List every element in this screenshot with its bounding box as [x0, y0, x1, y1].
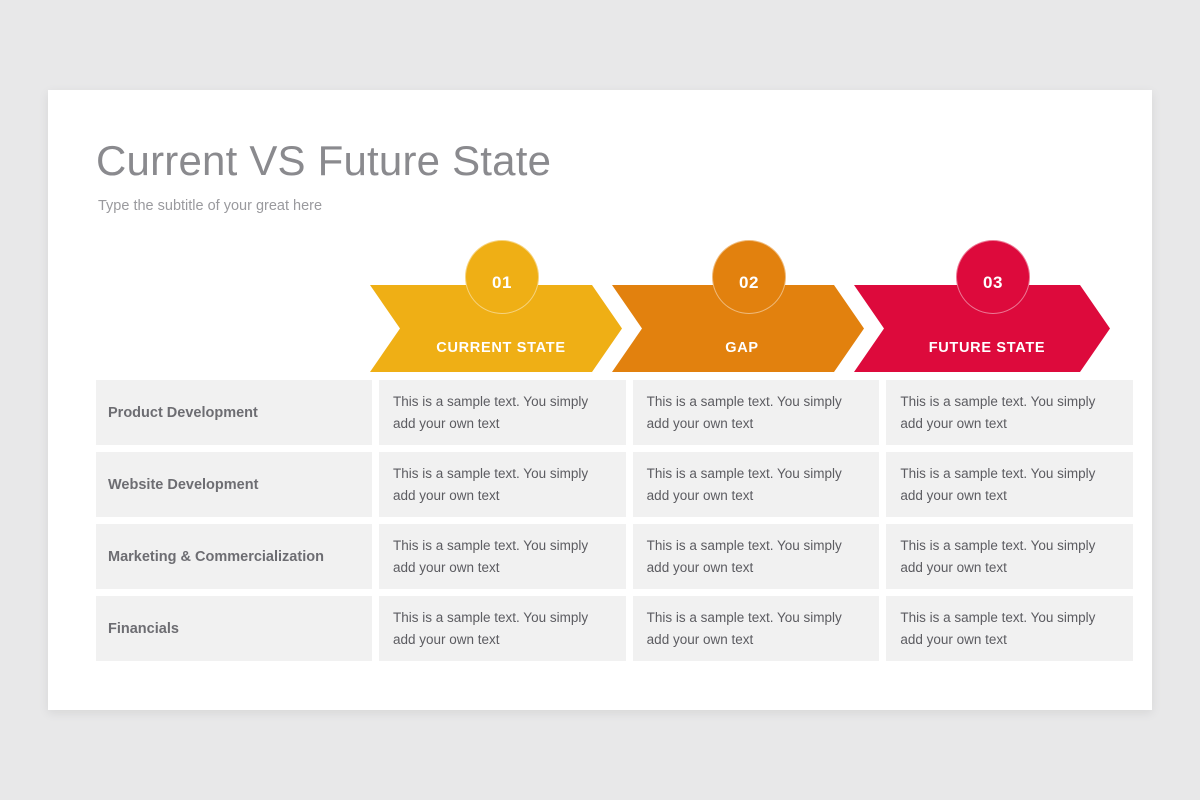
- cell-text: This is a sample text. You simply add yo…: [393, 463, 612, 507]
- table-row: Website Development This is a sample tex…: [96, 452, 1133, 517]
- cell-text: This is a sample text. You simply add yo…: [393, 535, 612, 579]
- cell-future-state[interactable]: This is a sample text. You simply add yo…: [886, 452, 1133, 517]
- cell-gap[interactable]: This is a sample text. You simply add yo…: [633, 596, 880, 661]
- cell-current-state[interactable]: This is a sample text. You simply add yo…: [379, 596, 626, 661]
- cell-text: This is a sample text. You simply add yo…: [647, 535, 866, 579]
- step-badge-2[interactable]: 02: [712, 240, 786, 314]
- chevron-header-row: 01 CURRENT STATE 02 GAP 03: [370, 285, 1110, 372]
- row-label: Marketing & Commercialization: [96, 524, 372, 589]
- cell-text: This is a sample text. You simply add yo…: [900, 391, 1119, 435]
- page-subtitle: Type the subtitle of your great here: [98, 198, 551, 214]
- row-label: Website Development: [96, 452, 372, 517]
- table-row: Financials This is a sample text. You si…: [96, 596, 1133, 661]
- step-badge-number: 03: [983, 273, 1003, 293]
- cell-text: This is a sample text. You simply add yo…: [393, 391, 612, 435]
- heading-block: Current VS Future State Type the subtitl…: [96, 138, 551, 214]
- step-badge-number: 01: [492, 273, 512, 293]
- step-badge-1[interactable]: 01: [465, 240, 539, 314]
- slide-stage: Current VS Future State Type the subtitl…: [0, 0, 1200, 800]
- chevron-step-1[interactable]: 01 CURRENT STATE: [370, 285, 622, 372]
- cell-text: This is a sample text. You simply add yo…: [647, 607, 866, 651]
- cell-gap[interactable]: This is a sample text. You simply add yo…: [633, 452, 880, 517]
- cell-current-state[interactable]: This is a sample text. You simply add yo…: [379, 524, 626, 589]
- step-badge-3[interactable]: 03: [956, 240, 1030, 314]
- cell-text: This is a sample text. You simply add yo…: [900, 607, 1119, 651]
- comparison-matrix: Product Development This is a sample tex…: [96, 380, 1133, 661]
- cell-future-state[interactable]: This is a sample text. You simply add yo…: [886, 380, 1133, 445]
- cell-gap[interactable]: This is a sample text. You simply add yo…: [633, 380, 880, 445]
- cell-current-state[interactable]: This is a sample text. You simply add yo…: [379, 380, 626, 445]
- chevron-step-2[interactable]: 02 GAP: [612, 285, 864, 372]
- cell-text: This is a sample text. You simply add yo…: [647, 391, 866, 435]
- cell-text: This is a sample text. You simply add yo…: [647, 463, 866, 507]
- cell-gap[interactable]: This is a sample text. You simply add yo…: [633, 524, 880, 589]
- row-label: Product Development: [96, 380, 372, 445]
- chevron-step-3[interactable]: 03 FUTURE STATE: [854, 285, 1110, 372]
- cell-future-state[interactable]: This is a sample text. You simply add yo…: [886, 524, 1133, 589]
- cell-text: This is a sample text. You simply add yo…: [900, 463, 1119, 507]
- row-label: Financials: [96, 596, 372, 661]
- cell-text: This is a sample text. You simply add yo…: [393, 607, 612, 651]
- cell-current-state[interactable]: This is a sample text. You simply add yo…: [379, 452, 626, 517]
- table-row: Marketing & Commercialization This is a …: [96, 524, 1133, 589]
- page-title: Current VS Future State: [96, 138, 551, 184]
- cell-future-state[interactable]: This is a sample text. You simply add yo…: [886, 596, 1133, 661]
- step-badge-number: 02: [739, 273, 759, 293]
- slide-card: Current VS Future State Type the subtitl…: [48, 90, 1152, 710]
- cell-text: This is a sample text. You simply add yo…: [900, 535, 1119, 579]
- table-row: Product Development This is a sample tex…: [96, 380, 1133, 445]
